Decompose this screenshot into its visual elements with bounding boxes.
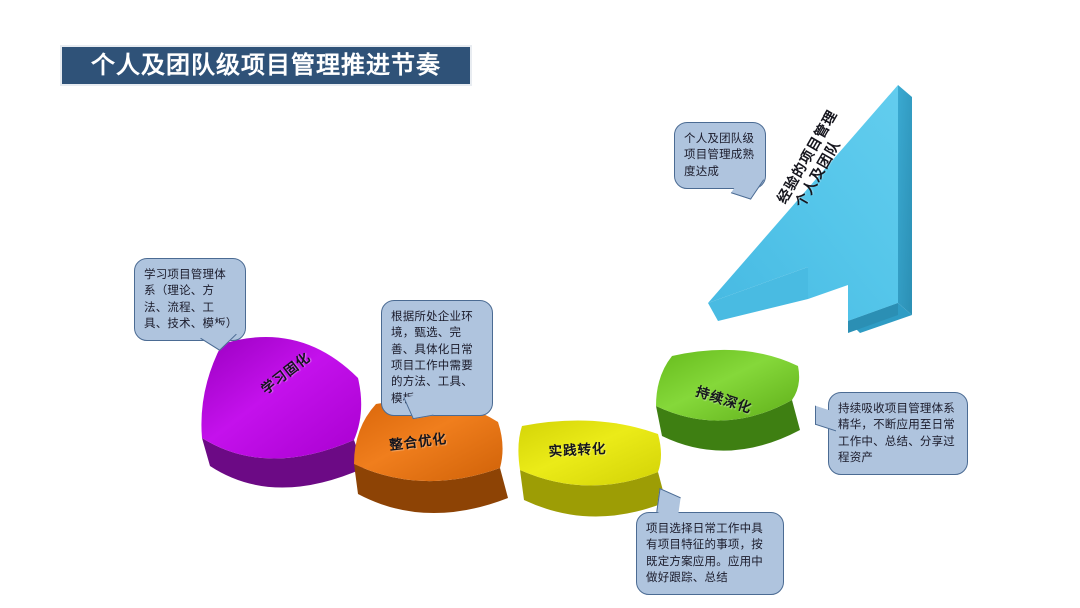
growth-arrow-shape — [700, 75, 990, 365]
callout-goal-text: 个人及团队级项目管理成熟度达成 — [684, 133, 754, 178]
callout-goal[interactable]: 个人及团队级项目管理成熟度达成 — [674, 122, 766, 189]
callout-learn[interactable]: 学习项目管理体系（理论、方法、流程、工具、技术、模板） — [134, 258, 246, 341]
callout-optimize[interactable]: 根据所处企业环境，甄选、完善、具体化日常项目工作中需要的方法、工具、模板。 — [381, 300, 493, 416]
callout-learn-text: 学习项目管理体系（理论、方法、流程、工具、技术、模板） — [144, 269, 238, 330]
page-title-text: 个人及团队级项目管理推进节奏 — [91, 54, 441, 78]
page-title: 个人及团队级项目管理推进节奏 — [60, 45, 472, 86]
callout-deepen[interactable]: 持续吸收项目管理体系精华，不断应用至日常工作中、总结、分享过程资产 — [828, 392, 968, 475]
callout-optimize-text: 根据所处企业环境，甄选、完善、具体化日常项目工作中需要的方法、工具、模板。 — [391, 311, 473, 405]
callout-practice-text: 项目选择日常工作中具有项目特征的事项，按既定方案应用。应用中做好跟踪、总结 — [646, 523, 763, 584]
step-block-deepen[interactable]: 持续深化 — [652, 340, 824, 470]
slide-canvas: 个人及团队级项目管理推进节奏 — [0, 0, 1080, 608]
callout-deepen-text: 持续吸收项目管理体系精华，不断应用至日常工作中、总结、分享过程资产 — [838, 403, 955, 464]
callout-practice[interactable]: 项目选择日常工作中具有项目特征的事项，按既定方案应用。应用中做好跟踪、总结 — [636, 512, 784, 595]
callout-optimize-tail — [403, 394, 433, 419]
growth-arrow: 经验的项目管理 个人及团队 — [700, 75, 990, 365]
step-block-practice-label: 实践转化 — [548, 437, 607, 460]
